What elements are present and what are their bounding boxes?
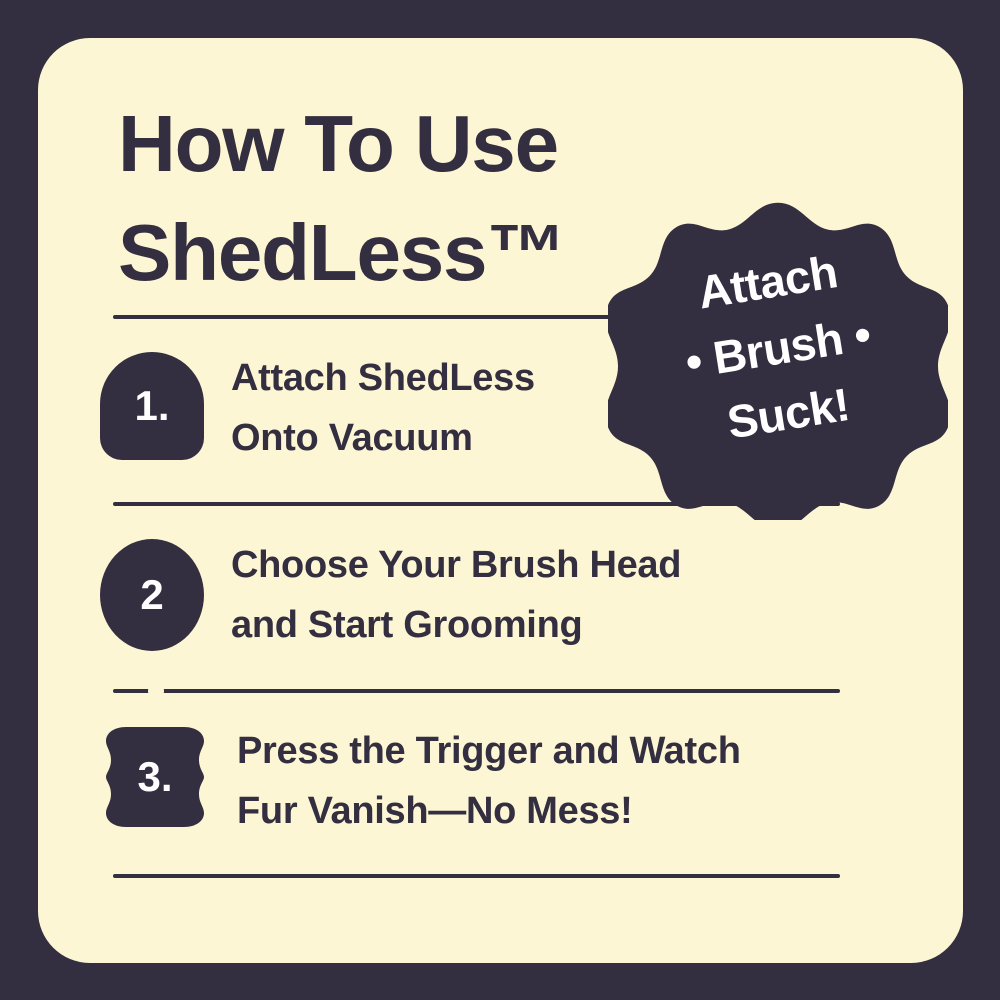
step-number-badge-1: 1.: [100, 352, 204, 460]
step-text-1-line-1: Attach ShedLess: [231, 348, 535, 408]
step-text-2: Choose Your Brush Head and Start Groomin…: [231, 535, 681, 655]
step-text-3-line-2: Fur Vanish—No Mess!: [237, 781, 741, 841]
seal-badge: Attach • Brush • Suck!: [608, 176, 948, 520]
step-text-1: Attach ShedLess Onto Vacuum: [231, 348, 535, 468]
step-item-2: 2 Choose Your Brush Head and Start Groom…: [100, 535, 681, 655]
step-text-3: Press the Trigger and Watch Fur Vanish—N…: [237, 721, 741, 841]
step-number-badge-3: 3.: [100, 725, 210, 829]
step-number-2: 2: [140, 571, 163, 619]
step-number-badge-2: 2: [100, 539, 204, 651]
step-item-3: 3. Press the Trigger and Watch Fur Vanis…: [100, 721, 741, 841]
seal-badge-text: Attach • Brush • Suck!: [583, 152, 963, 545]
step-text-1-line-2: Onto Vacuum: [231, 408, 535, 468]
divider-dot: [148, 683, 164, 699]
step-number-1: 1.: [134, 382, 169, 430]
step-text-3-line-1: Press the Trigger and Watch: [237, 721, 741, 781]
poster-frame: How To Use ShedLess™ 1. Attach ShedLess …: [0, 0, 1000, 1000]
step-text-2-line-1: Choose Your Brush Head: [231, 535, 681, 595]
divider-4: [113, 874, 840, 878]
step-number-3: 3.: [137, 753, 172, 801]
divider-3: [113, 689, 840, 693]
poster-card: How To Use ShedLess™ 1. Attach ShedLess …: [38, 38, 963, 963]
step-item-1: 1. Attach ShedLess Onto Vacuum: [100, 348, 535, 468]
step-text-2-line-2: and Start Grooming: [231, 595, 681, 655]
